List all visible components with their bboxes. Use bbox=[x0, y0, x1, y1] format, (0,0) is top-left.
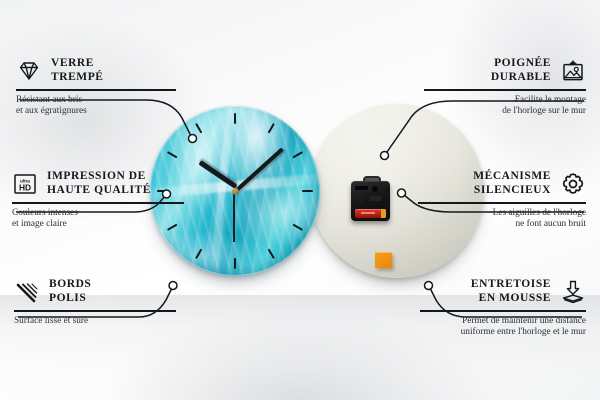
feature-impression-haute-qualite[interactable]: ultra HD IMPRESSION DE HAUTE QUALITÉ Cou… bbox=[12, 170, 184, 231]
quartz-mechanism bbox=[351, 181, 390, 221]
feature-header: VERRE TREMPÉ bbox=[16, 57, 176, 84]
feature-title: IMPRESSION DE HAUTE QUALITÉ bbox=[47, 170, 151, 197]
battery-label-band bbox=[361, 212, 375, 214]
feature-header: BORDS POLIS bbox=[14, 278, 176, 305]
feature-subtitle: Permet de maintenir une distance uniform… bbox=[420, 316, 586, 339]
polished-edges-icon bbox=[14, 279, 40, 305]
feature-subtitle: Surface lisse et sûre bbox=[14, 316, 176, 328]
feature-subtitle: Résistant aux bris et aux égratignures bbox=[16, 95, 176, 118]
battery-positive-cap bbox=[381, 209, 386, 218]
feature-mecanisme-silencieux[interactable]: MÉCANISME SILENCIEUX Les aiguilles de l'… bbox=[418, 170, 586, 231]
feature-title: BORDS POLIS bbox=[49, 278, 91, 305]
mechanism-detail bbox=[372, 186, 378, 192]
feature-divider bbox=[12, 202, 184, 204]
feature-divider bbox=[418, 202, 586, 204]
diamond-icon bbox=[16, 58, 42, 84]
feature-subtitle: Les aiguilles de l'horloge ne font aucun… bbox=[418, 208, 586, 231]
feature-header: ultra HD IMPRESSION DE HAUTE QUALITÉ bbox=[12, 170, 184, 197]
feature-entretoise-en-mousse[interactable]: ENTRETOISE EN MOUSSE Permet de maintenir… bbox=[420, 278, 586, 339]
hanging-picture-icon bbox=[560, 58, 586, 84]
mechanism-housing bbox=[351, 181, 390, 221]
mechanism-detail bbox=[355, 186, 368, 190]
feature-title: POIGNÉE DURABLE bbox=[491, 57, 551, 84]
ultra-hd-badge-icon: ultra HD bbox=[12, 171, 38, 197]
infographic-canvas: VERRE TREMPÉ Résistant aux bris et aux é… bbox=[0, 0, 600, 400]
feature-subtitle: Facilite le montage de l'horloge sur le … bbox=[424, 95, 586, 118]
svg-text:HD: HD bbox=[19, 182, 31, 192]
mechanism-detail bbox=[356, 194, 365, 203]
feature-header: ENTRETOISE EN MOUSSE bbox=[420, 278, 586, 305]
feature-header: MÉCANISME SILENCIEUX bbox=[418, 170, 586, 197]
feature-verre-trempe[interactable]: VERRE TREMPÉ Résistant aux bris et aux é… bbox=[16, 57, 176, 118]
battery bbox=[355, 209, 386, 218]
feature-title: ENTRETOISE EN MOUSSE bbox=[471, 278, 551, 305]
feature-subtitle: Couleurs intenses et image claire bbox=[12, 208, 184, 231]
feature-divider bbox=[420, 310, 586, 312]
feature-title: VERRE TREMPÉ bbox=[51, 57, 104, 84]
feature-bords-polis[interactable]: BORDS POLIS Surface lisse et sûre bbox=[14, 278, 176, 327]
feature-divider bbox=[14, 310, 176, 312]
foam-spacer bbox=[375, 252, 392, 268]
feature-poignee-durable[interactable]: POIGNÉE DURABLE Facilite le montage de l… bbox=[424, 57, 586, 118]
foam-spacer-arrow-icon bbox=[560, 279, 586, 305]
mechanism-detail bbox=[369, 196, 381, 201]
feature-divider bbox=[424, 89, 586, 91]
feature-title: MÉCANISME SILENCIEUX bbox=[473, 170, 551, 197]
feature-header: POIGNÉE DURABLE bbox=[424, 57, 586, 84]
feature-divider bbox=[16, 89, 176, 91]
gear-icon bbox=[560, 171, 586, 197]
